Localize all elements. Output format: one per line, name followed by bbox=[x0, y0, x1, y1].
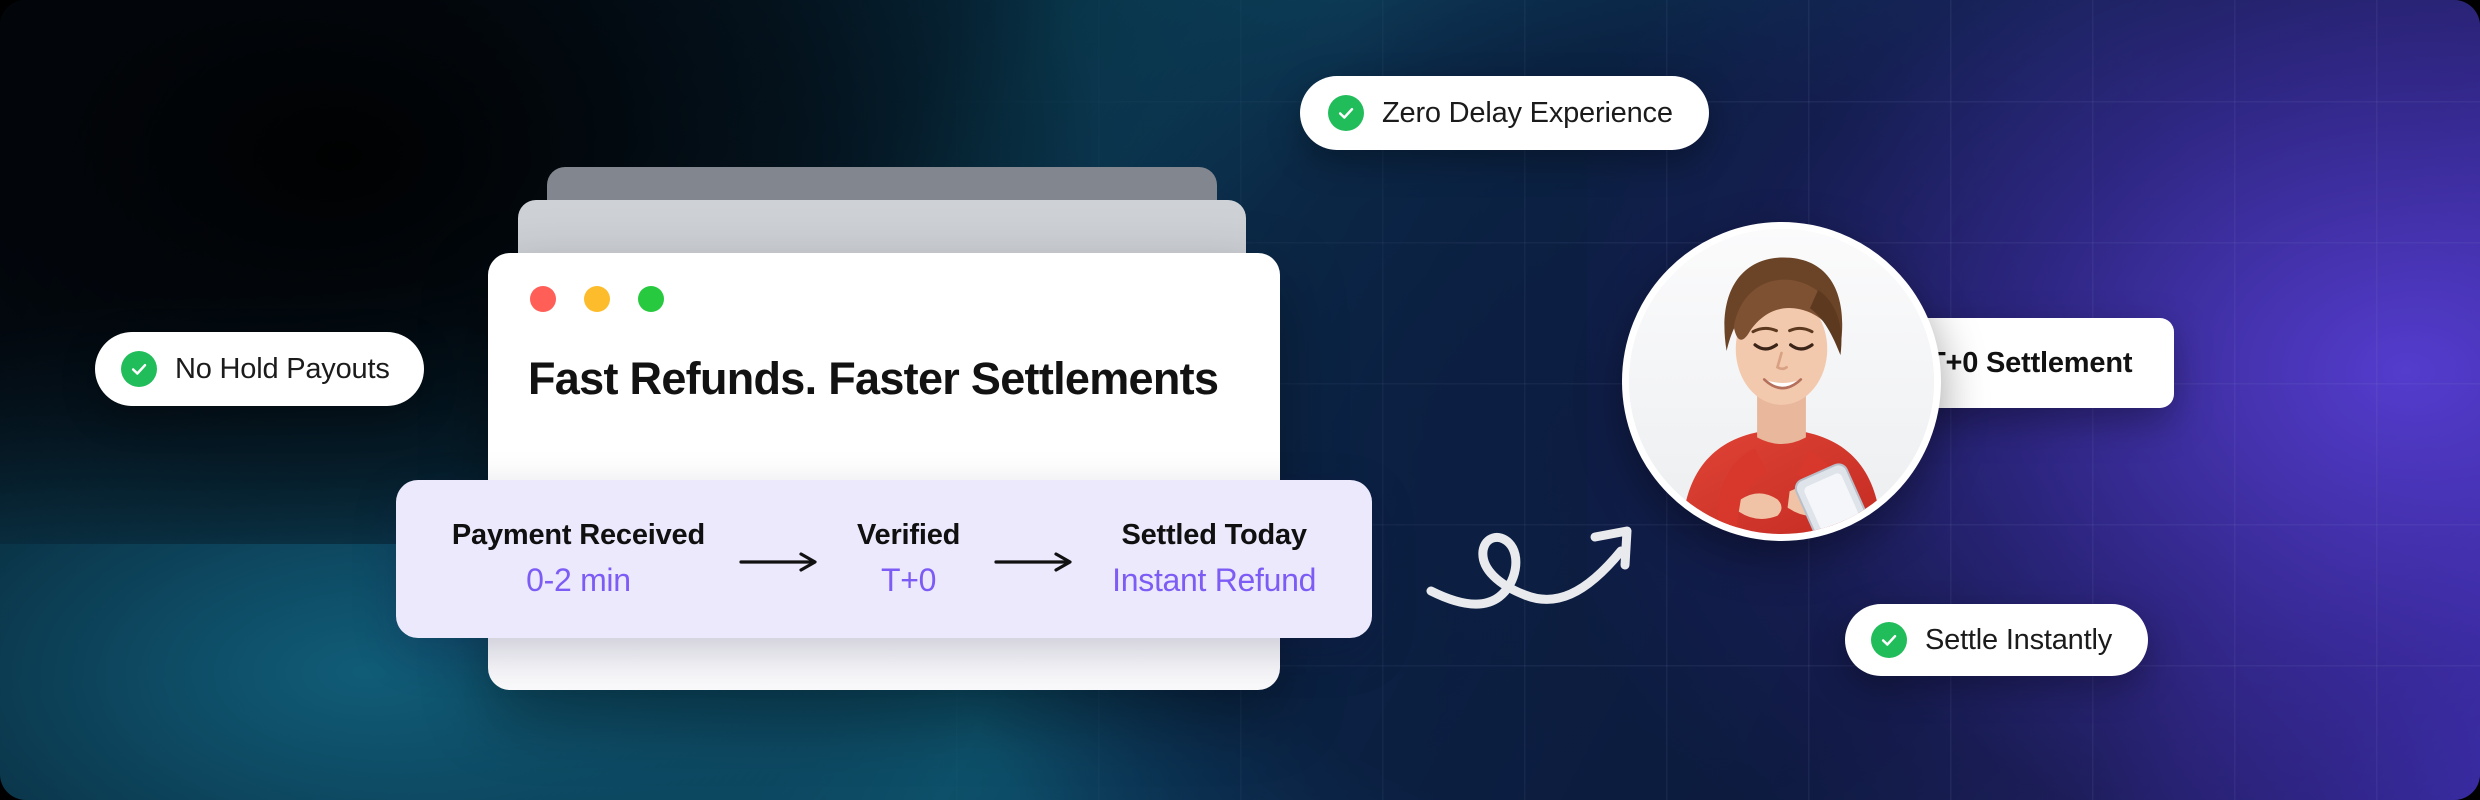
badge-label: T+0 Settlement bbox=[1928, 347, 2132, 380]
settlement-flow-ribbon: Payment Received 0-2 min Verified T+0 Se… bbox=[396, 480, 1372, 638]
check-circle-icon bbox=[1328, 95, 1364, 131]
check-circle-icon bbox=[121, 351, 157, 387]
badge-zero-delay-experience[interactable]: Zero Delay Experience bbox=[1300, 76, 1709, 150]
curved-loop-arrow-icon bbox=[1425, 485, 1675, 625]
close-dot-icon[interactable] bbox=[530, 286, 556, 312]
badge-settle-instantly[interactable]: Settle Instantly bbox=[1845, 604, 2148, 676]
badge-no-hold-payouts[interactable]: No Hold Payouts bbox=[95, 332, 424, 406]
flow-step-value: T+0 bbox=[881, 562, 936, 599]
flow-step-value: 0-2 min bbox=[526, 562, 631, 599]
flow-step-label: Settled Today bbox=[1121, 519, 1306, 552]
badge-label: Settle Instantly bbox=[1925, 624, 2112, 657]
badge-label: No Hold Payouts bbox=[175, 353, 390, 386]
check-circle-icon bbox=[1871, 622, 1907, 658]
flow-step-settled-today: Settled Today Instant Refund bbox=[1112, 519, 1316, 599]
badge-label: Zero Delay Experience bbox=[1382, 97, 1673, 130]
flow-step-verified: Verified T+0 bbox=[857, 519, 960, 599]
flow-step-payment-received: Payment Received 0-2 min bbox=[452, 519, 705, 599]
flow-step-value: Instant Refund bbox=[1112, 562, 1316, 599]
window-controls bbox=[530, 286, 664, 312]
card-title: Fast Refunds. Faster Settlements bbox=[528, 353, 1218, 405]
maximize-dot-icon[interactable] bbox=[638, 286, 664, 312]
flow-step-label: Verified bbox=[857, 519, 960, 552]
hero-banner: Fast Refunds. Faster Settlements Payment… bbox=[0, 0, 2480, 800]
arrow-right-icon bbox=[994, 549, 1078, 575]
flow-step-label: Payment Received bbox=[452, 519, 705, 552]
arrow-right-icon bbox=[739, 549, 823, 575]
minimize-dot-icon[interactable] bbox=[584, 286, 610, 312]
